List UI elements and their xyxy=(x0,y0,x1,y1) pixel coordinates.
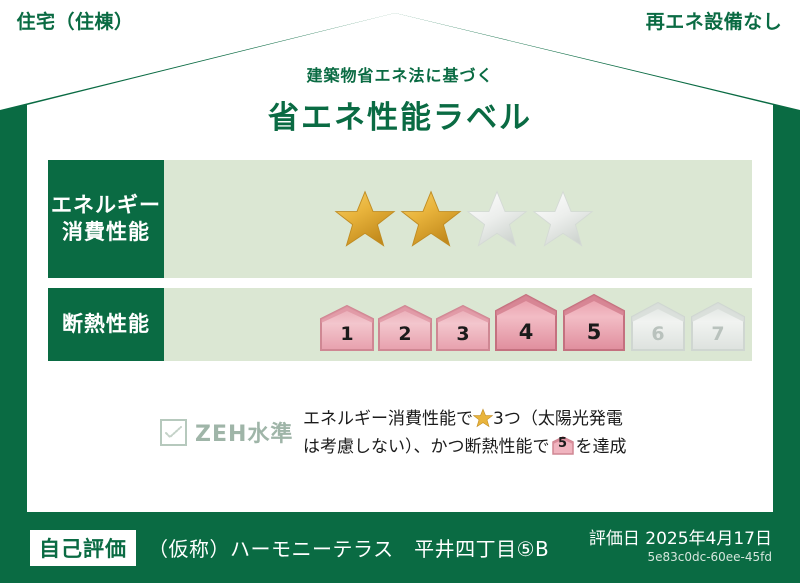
house-badge-7: 7 xyxy=(689,298,747,353)
page-title: 省エネ性能ラベル xyxy=(0,92,800,137)
description-line2-suffix: を達成 xyxy=(576,437,627,457)
tag-renewable-equipment: 再エネ設備なし xyxy=(634,0,794,41)
description-line1-suffix: 3つ（太陽光発電 xyxy=(493,409,623,429)
footer-bar: 自己評価 （仮称）ハーモニーテラス 平井四丁目⑤B 評価日 2025年4月17日… xyxy=(0,512,800,583)
tag-renewable-equipment-label: 再エネ設備なし xyxy=(646,7,783,34)
evaluation-type-badge: 自己評価 xyxy=(30,530,136,566)
title-subtitle: 建築物省エネ法に基づく xyxy=(0,62,800,86)
evaluation-meta: 評価日 2025年4月17日 5e83c0dc-60ee-45fd xyxy=(589,530,772,564)
evaluation-date: 評価日 2025年4月17日 xyxy=(589,530,772,549)
inline-grade-value: 5 xyxy=(552,433,574,454)
energy-performance-label: 住宅（住棟） 再エネ設備なし 建築物省エネ法に基づく 省エネ性能ラベル エネルギ… xyxy=(0,0,800,583)
house-badge-2: 2 xyxy=(377,301,433,353)
zeh-standard-label: ZEH水準 xyxy=(195,416,293,448)
insulation-performance-panel: 断熱性能 xyxy=(48,288,752,361)
house-badge-6: 6 xyxy=(629,298,687,353)
check-icon xyxy=(165,426,182,439)
description-line1-prefix: エネルギー消費性能で xyxy=(303,409,473,429)
energy-star-rating xyxy=(164,160,752,278)
tag-housing-type: 住宅（住棟） xyxy=(10,0,140,41)
tag-housing-type-label: 住宅（住棟） xyxy=(16,7,133,34)
house-badge-5: 5 xyxy=(561,291,627,353)
evaluation-id: 5e83c0dc-60ee-45fd xyxy=(589,551,772,564)
energy-performance-panel: エネルギー 消費性能 xyxy=(48,160,752,278)
description-line2-prefix: は考慮しない）、かつ断熱性能で xyxy=(303,437,550,457)
insulation-grade-scale: 1 2 3 xyxy=(164,288,752,361)
house-badge-1: 1 xyxy=(319,301,375,353)
performance-description: エネルギー消費性能で3つ（太陽光発電 は考慮しない）、かつ断熱性能で5を達成 xyxy=(303,404,752,461)
energy-label-line1: エネルギー xyxy=(51,192,161,219)
zeh-standard-mark: ZEH水準 xyxy=(48,404,303,448)
energy-performance-label-box: エネルギー 消費性能 xyxy=(48,160,164,278)
star-icon-2-filled xyxy=(400,188,462,250)
energy-label-line2: 消費性能 xyxy=(62,219,150,246)
building-name: （仮称）ハーモニーテラス 平井四丁目⑤B xyxy=(148,533,549,562)
star-icon-3-empty xyxy=(466,188,528,250)
insulation-performance-label-box: 断熱性能 xyxy=(48,288,164,361)
evaluation-type-label: 自己評価 xyxy=(39,537,127,561)
inline-star-icon xyxy=(473,408,493,428)
insulation-label: 断熱性能 xyxy=(62,311,150,338)
house-badge-3: 3 xyxy=(435,301,491,353)
zeh-checkbox-icon xyxy=(160,419,187,446)
house-badge-row: 1 2 3 xyxy=(319,291,747,361)
inline-grade-chip: 5 xyxy=(552,436,574,455)
star-icon-1-filled xyxy=(334,188,396,250)
star-icon-4-empty xyxy=(532,188,594,250)
house-badge-4: 4 xyxy=(493,291,559,353)
zeh-description-row: ZEH水準 エネルギー消費性能で3つ（太陽光発電 は考慮しない）、かつ断熱性能で… xyxy=(48,404,752,476)
title-block: 建築物省エネ法に基づく 省エネ性能ラベル xyxy=(0,62,800,137)
